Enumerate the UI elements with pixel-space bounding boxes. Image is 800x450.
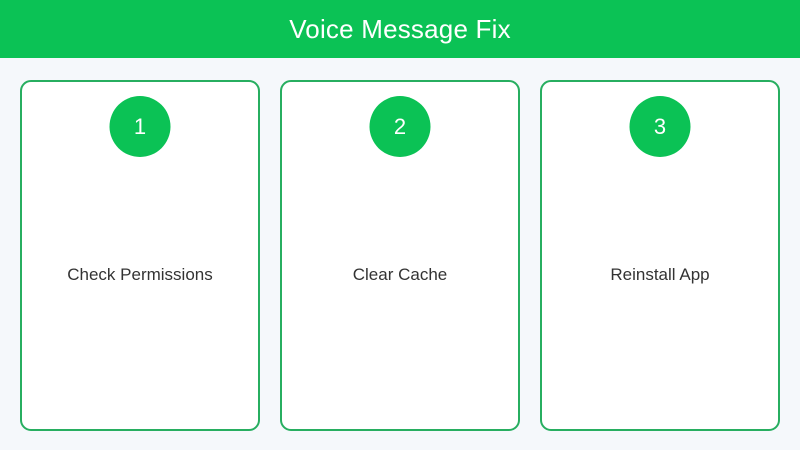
step-title-2: Clear Cache (282, 265, 518, 285)
step-title-3: Reinstall App (542, 265, 778, 285)
diagram-root: Voice Message Fix 1 Check Permissions 2 … (0, 0, 800, 450)
step-number-badge-3: 3 (630, 96, 691, 157)
page-title: Voice Message Fix (289, 16, 511, 42)
step-title-1: Check Permissions (22, 265, 258, 285)
step-card-3[interactable]: 3 Reinstall App (540, 80, 780, 431)
step-number-label-2: 2 (394, 116, 406, 138)
steps-container: 1 Check Permissions 2 Clear Cache 3 Rein… (20, 80, 780, 431)
step-number-label-3: 3 (654, 116, 666, 138)
step-card-1[interactable]: 1 Check Permissions (20, 80, 260, 431)
header-banner: Voice Message Fix (0, 0, 800, 58)
step-number-label-1: 1 (134, 116, 146, 138)
step-number-badge-1: 1 (110, 96, 171, 157)
step-number-badge-2: 2 (370, 96, 431, 157)
step-card-2[interactable]: 2 Clear Cache (280, 80, 520, 431)
